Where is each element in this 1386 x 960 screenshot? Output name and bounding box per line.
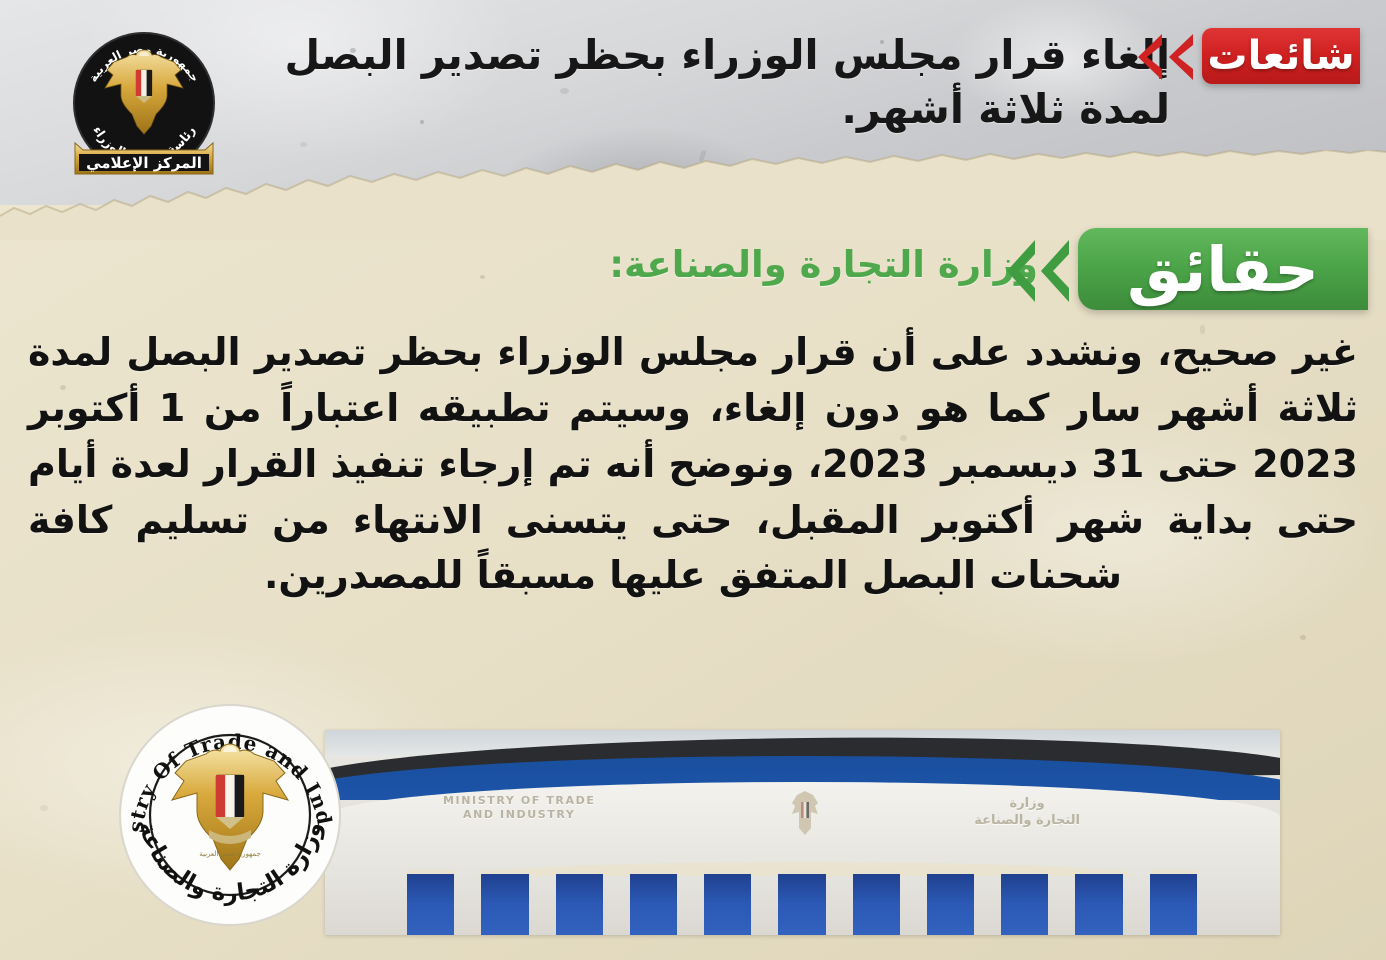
photo-window [1150,870,1197,935]
building-sign-ar-line1: وزارة [974,796,1080,813]
rumor-chevron-group [1136,34,1194,80]
texture-speck [480,275,485,279]
fact-subtitle: وزارة التجارة والصناعة: [609,243,1038,286]
building-sign-en-line1: MINISTRY OF TRADE [443,794,595,808]
egypt-cabinet-media-center-logo: جمهورية مصر العربية رئاسة مجلس الوزراء ا… [63,22,225,188]
photo-window [704,870,751,935]
photo-window [407,870,454,935]
logo-cabinet-banner-text: المركز الإعلامي [86,154,202,172]
photo-window [853,870,900,935]
ministry-of-trade-and-industry-logo: Ministry Of Trade and Industry وزارة الت… [117,702,344,929]
fact-badge: حقائق [1078,228,1368,310]
rumor-badge-label: شائعات [1207,33,1354,79]
fact-body-text: غير صحيح، ونشدد على أن قرار مجلس الوزراء… [28,325,1358,604]
building-sign-english: MINISTRY OF TRADE AND INDUSTRY [443,794,595,822]
texture-speck [40,805,48,811]
photo-window [1001,870,1048,935]
double-chevron-left-icon [1006,240,1036,302]
building-sign-ar-line2: التجارة والصناعة [974,813,1080,830]
eagle-of-saladin-icon [787,788,823,840]
texture-speck [700,223,704,227]
building-sign-en-line2: AND INDUSTRY [443,808,595,822]
rumor-fact-infographic-poster: شائعات إلغاء قرار مجلس الوزراء بحظر تصدي… [0,0,1386,960]
fact-chevron-group [1006,240,1070,302]
rumor-headline: إلغاء قرار مجلس الوزراء بحظر تصدير البصل… [230,28,1170,136]
ministry-building-photo: MINISTRY OF TRADE AND INDUSTRY وزارة الت… [325,730,1280,935]
texture-speck [1000,172,1005,177]
texture-speck [300,142,307,147]
photo-window [556,870,603,935]
double-chevron-left-icon [1136,34,1163,80]
photo-window [927,870,974,935]
building-sign-arabic: وزارة التجارة والصناعة [974,796,1080,830]
double-chevron-left-icon [1167,34,1194,80]
double-chevron-left-icon [1040,240,1070,302]
texture-speck [1300,635,1306,640]
photo-window [778,870,825,935]
emblem-scroll-text: جمهورية مصر العربية [199,850,261,858]
rumor-badge: شائعات [1202,28,1360,84]
texture-speck [698,150,707,163]
photo-window [481,870,528,935]
photo-window [630,870,677,935]
photo-window-row [407,870,1197,935]
fact-badge-label: حقائق [1127,233,1319,306]
photo-window [1075,870,1122,935]
